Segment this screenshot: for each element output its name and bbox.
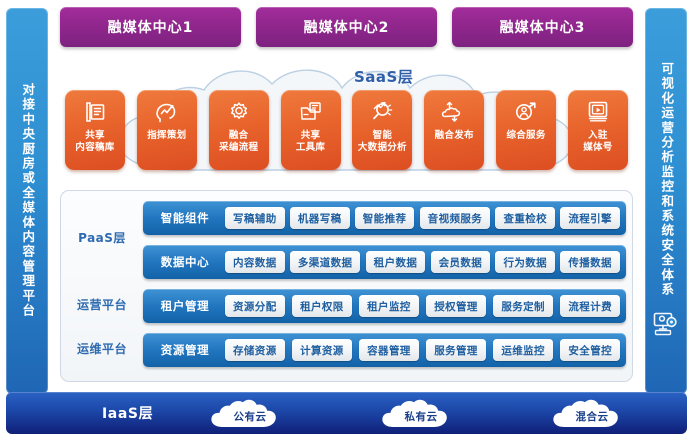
tile-label-line2: 内容稿库 <box>75 142 114 153</box>
chip[interactable]: 租户监控 <box>359 295 419 317</box>
chip[interactable]: 资源分配 <box>225 295 285 317</box>
row-chips: 存储资源 计算资源 容器管理 服务管理 运维监控 安全管控 <box>221 339 620 361</box>
saas-layer: SaaS层 共享 内容稿库 <box>58 52 635 186</box>
tile-label-line1: 智能 <box>373 130 393 141</box>
chip[interactable]: 音视频服务 <box>420 207 491 229</box>
chip[interactable]: 写稿辅助 <box>225 207 285 229</box>
tile-label-line2: 采编流程 <box>219 142 258 153</box>
media-center-2[interactable]: 融媒体中心2 <box>256 7 437 47</box>
architecture-diagram: 对接中央厨房或全媒体内容管理平台 可视化运营分析监控和系统安全体系 融媒体中心1… <box>0 0 693 440</box>
paas-side-labels: PaaS层 运营平台 运维平台 <box>61 191 143 381</box>
chip[interactable]: 安全管控 <box>560 339 620 361</box>
paas-row-tenant-management: 租户管理 资源分配 租户权限 租户监控 授权管理 服务定制 流程计费 <box>143 289 626 323</box>
tile-label-line1: 共享 <box>301 130 321 141</box>
tile-label-line1: 入驻 <box>588 130 608 141</box>
chip[interactable]: 容器管理 <box>359 339 419 361</box>
saas-tile-content-library[interactable]: 共享 内容稿库 <box>65 90 125 170</box>
chip[interactable]: 查重检校 <box>495 207 555 229</box>
chip[interactable]: 计算资源 <box>292 339 352 361</box>
cloud-label: 公有云 <box>206 409 294 424</box>
paas-row-resource-management: 资源管理 存储资源 计算资源 容器管理 服务管理 运维监控 安全管控 <box>143 333 626 367</box>
media-play-icon <box>585 98 611 126</box>
tile-label-line1: 综合服务 <box>506 130 545 141</box>
chip[interactable]: 运维监控 <box>493 339 553 361</box>
chip[interactable]: 会员数据 <box>431 251 491 273</box>
iaas-cloud-row: 公有云 私有云 混合云 <box>206 392 636 434</box>
chip[interactable]: 机器写稿 <box>290 207 350 229</box>
publish-cloud-icon <box>441 98 467 126</box>
row-chips: 内容数据 多渠道数据 租户数据 会员数据 行为数据 传播数据 <box>221 251 620 273</box>
side-label-operations: 运营平台 <box>61 296 143 313</box>
chip[interactable]: 租户权限 <box>292 295 352 317</box>
left-rail-label: 对接中央厨房或全媒体内容管理平台 <box>21 83 34 318</box>
iaas-cloud-public[interactable]: 公有云 <box>206 396 294 430</box>
iaas-cloud-private[interactable]: 私有云 <box>377 396 465 430</box>
media-center-row: 融媒体中心1 融媒体中心2 融媒体中心3 <box>60 6 633 48</box>
chip[interactable]: 智能推荐 <box>355 207 415 229</box>
chip[interactable]: 服务定制 <box>493 295 553 317</box>
media-center-1[interactable]: 融媒体中心1 <box>60 7 241 47</box>
chip[interactable]: 行为数据 <box>495 251 555 273</box>
tile-label-line2: 媒体号 <box>583 142 612 153</box>
chip[interactable]: 授权管理 <box>426 295 486 317</box>
planning-head-icon <box>154 98 180 126</box>
chip[interactable]: 服务管理 <box>426 339 486 361</box>
saas-tile-media-account[interactable]: 入驻 媒体号 <box>568 90 628 170</box>
row-head[interactable]: 数据中心 <box>149 254 221 270</box>
cloud-label: 私有云 <box>377 409 465 424</box>
tile-label-line1: 融合发布 <box>435 130 474 141</box>
iaas-label: IaaS层 <box>102 403 153 423</box>
chip[interactable]: 流程计费 <box>560 295 620 317</box>
side-label-paas: PaaS层 <box>61 229 143 246</box>
media-center-3[interactable]: 融媒体中心3 <box>452 7 633 47</box>
paas-rows: 智能组件 写稿辅助 机器写稿 智能推荐 音视频服务 查重检校 流程引擎 数据中心… <box>143 201 626 367</box>
saas-tile-toolbox[interactable]: 共享 工具库 <box>281 90 341 170</box>
saas-tile-service[interactable]: 综合服务 <box>496 90 556 170</box>
iaas-layer: IaaS层 公有云 私有云 混合云 <box>6 392 687 434</box>
chip[interactable]: 租户数据 <box>366 251 426 273</box>
saas-label: SaaS层 <box>354 66 413 87</box>
saas-tile-bigdata[interactable]: 智能 大数据分析 <box>352 90 412 170</box>
chip[interactable]: 传播数据 <box>560 251 620 273</box>
cloud-label: 混合云 <box>548 409 636 424</box>
row-chips: 资源分配 租户权限 租户监控 授权管理 服务定制 流程计费 <box>221 295 620 317</box>
right-rail-label: 可视化运营分析监控和系统安全体系 <box>660 62 673 297</box>
saas-tile-planning[interactable]: 指挥策划 <box>137 90 197 170</box>
row-head[interactable]: 智能组件 <box>149 210 221 226</box>
iaas-cloud-hybrid[interactable]: 混合云 <box>548 396 636 430</box>
saas-tile-publish[interactable]: 融合发布 <box>424 90 484 170</box>
paas-panel: PaaS层 运营平台 运维平台 智能组件 写稿辅助 机器写稿 智能推荐 音视频服… <box>60 190 633 382</box>
shared-toolbox-icon <box>298 98 324 126</box>
row-chips: 写稿辅助 机器写稿 智能推荐 音视频服务 查重检校 流程引擎 <box>221 207 620 229</box>
paas-row-smart-components: 智能组件 写稿辅助 机器写稿 智能推荐 音视频服务 查重检校 流程引擎 <box>143 201 626 235</box>
tile-label-line1: 共享 <box>85 130 105 141</box>
chip[interactable]: 存储资源 <box>225 339 285 361</box>
gear-icon <box>226 98 252 126</box>
right-rail: 可视化运营分析监控和系统安全体系 <box>645 8 687 394</box>
monitor-gear-icon <box>653 312 679 340</box>
chip[interactable]: 内容数据 <box>225 251 285 273</box>
tile-label-line2: 工具库 <box>296 142 325 153</box>
tile-label-line2: 大数据分析 <box>358 142 407 153</box>
saas-tile-editing-process[interactable]: 融合 采编流程 <box>209 90 269 170</box>
saas-tile-row: 共享 内容稿库 指挥策划 <box>65 90 628 172</box>
left-rail: 对接中央厨房或全媒体内容管理平台 <box>6 8 48 394</box>
user-service-icon <box>513 98 539 126</box>
tile-label-line1: 指挥策划 <box>147 130 186 141</box>
paas-row-data-center: 数据中心 内容数据 多渠道数据 租户数据 会员数据 行为数据 传播数据 <box>143 245 626 279</box>
side-label-maintenance: 运维平台 <box>61 340 143 357</box>
chip[interactable]: 流程引擎 <box>560 207 620 229</box>
content-library-icon <box>82 98 108 126</box>
chip[interactable]: 多渠道数据 <box>290 251 361 273</box>
tile-label-line1: 融合 <box>229 130 249 141</box>
row-head[interactable]: 资源管理 <box>149 342 221 358</box>
bigdata-magnifier-icon <box>369 98 395 126</box>
row-head[interactable]: 租户管理 <box>149 298 221 314</box>
